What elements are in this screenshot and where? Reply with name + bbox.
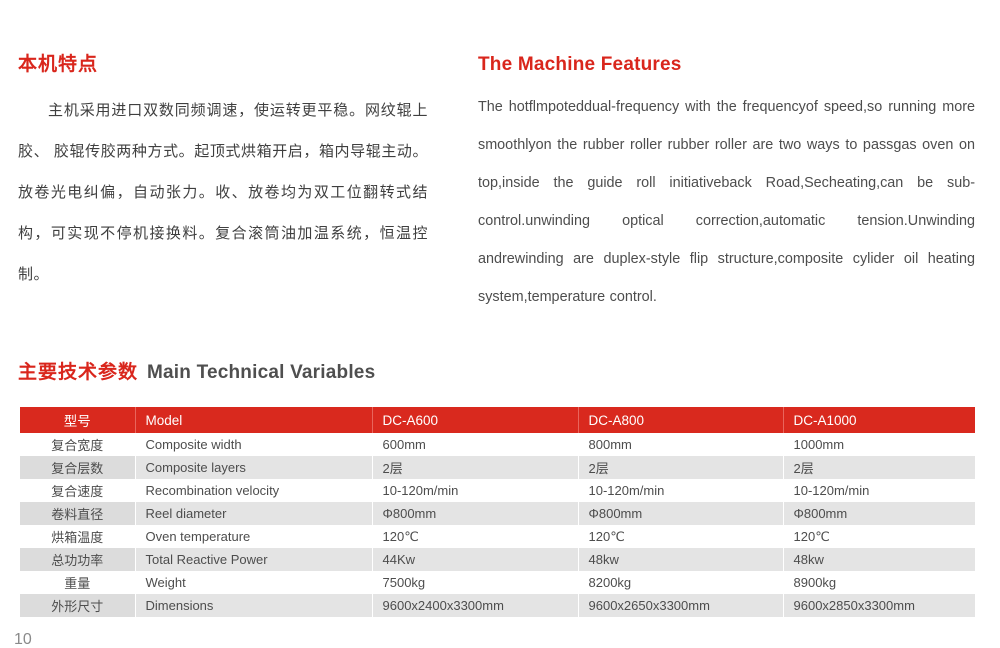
- row-label-cn: 卷料直径: [20, 502, 135, 525]
- row-label-en: Reel diameter: [135, 502, 372, 525]
- table-row: 烘箱温度 Oven temperature 120℃ 120℃ 120℃: [20, 525, 975, 548]
- row-label-en: Recombination velocity: [135, 479, 372, 502]
- row-value-dc-a800: 120℃: [578, 525, 783, 548]
- table-header-cell-model-cn: 型号: [20, 407, 135, 433]
- row-value-dc-a1000: Φ800mm: [783, 502, 975, 525]
- table-header-cell-dc-a600: DC-A600: [372, 407, 578, 433]
- row-value-dc-a1000: 1000mm: [783, 433, 975, 456]
- row-value-dc-a800: 800mm: [578, 433, 783, 456]
- features-body-chinese: 主机采用进口双数同频调速，使运转更平稳。网纹辊上胶、 胶辊传胶两种方式。起顶式烘…: [18, 90, 428, 295]
- row-value-dc-a600: 10-120m/min: [372, 479, 578, 502]
- features-heading-chinese: 本机特点: [18, 55, 428, 76]
- row-value-dc-a1000: 120℃: [783, 525, 975, 548]
- row-value-dc-a600: Φ800mm: [372, 502, 578, 525]
- row-value-dc-a1000: 2层: [783, 456, 975, 479]
- table-body: 复合宽度 Composite width 600mm 800mm 1000mm …: [20, 433, 975, 617]
- row-label-cn: 复合层数: [20, 456, 135, 479]
- row-value-dc-a1000: 48kw: [783, 548, 975, 571]
- row-value-dc-a800: 48kw: [578, 548, 783, 571]
- table-row: 外形尺寸 Dimensions 9600x2400x3300mm 9600x26…: [20, 594, 975, 617]
- row-value-dc-a600: 600mm: [372, 433, 578, 456]
- row-value-dc-a1000: 10-120m/min: [783, 479, 975, 502]
- row-label-cn: 重量: [20, 571, 135, 594]
- specs-title-english: Main Technical Variables: [147, 362, 375, 383]
- row-label-cn: 复合速度: [20, 479, 135, 502]
- table-header-row: 型号 Model DC-A600 DC-A800 DC-A1000: [20, 407, 975, 433]
- row-value-dc-a600: 9600x2400x3300mm: [372, 594, 578, 617]
- row-label-en: Oven temperature: [135, 525, 372, 548]
- row-value-dc-a600: 2层: [372, 456, 578, 479]
- row-label-cn: 复合宽度: [20, 433, 135, 456]
- features-column-chinese: 本机特点 主机采用进口双数同频调速，使运转更平稳。网纹辊上胶、 胶辊传胶两种方式…: [18, 55, 428, 295]
- table-row: 卷料直径 Reel diameter Φ800mm Φ800mm Φ800mm: [20, 502, 975, 525]
- machine-features-section: 本机特点 主机采用进口双数同频调速，使运转更平稳。网纹辊上胶、 胶辊传胶两种方式…: [0, 0, 1000, 340]
- row-label-cn: 烘箱温度: [20, 525, 135, 548]
- table-header-cell-dc-a1000: DC-A1000: [783, 407, 975, 433]
- table-header: 型号 Model DC-A600 DC-A800 DC-A1000: [20, 407, 975, 433]
- row-value-dc-a1000: 9600x2850x3300mm: [783, 594, 975, 617]
- specs-section-title: 主要技术参数Main Technical Variables: [18, 362, 375, 385]
- row-label-en: Weight: [135, 571, 372, 594]
- row-value-dc-a600: 120℃: [372, 525, 578, 548]
- page-number: 10: [14, 632, 32, 648]
- features-heading-english: The Machine Features: [478, 55, 975, 76]
- row-value-dc-a800: 9600x2650x3300mm: [578, 594, 783, 617]
- row-label-en: Composite layers: [135, 456, 372, 479]
- features-column-english: The Machine Features The hotflmpoteddual…: [478, 55, 975, 316]
- features-body-english: The hotflmpoteddual-frequency with the f…: [478, 88, 975, 316]
- table-header-cell-model-en: Model: [135, 407, 372, 433]
- specs-title-chinese: 主要技术参数: [18, 362, 138, 383]
- row-label-en: Composite width: [135, 433, 372, 456]
- row-value-dc-a600: 44Kw: [372, 548, 578, 571]
- row-value-dc-a800: Φ800mm: [578, 502, 783, 525]
- technical-variables-table: 型号 Model DC-A600 DC-A800 DC-A1000 复合宽度 C…: [20, 407, 975, 617]
- row-label-cn: 总功功率: [20, 548, 135, 571]
- table-row: 复合宽度 Composite width 600mm 800mm 1000mm: [20, 433, 975, 456]
- row-value-dc-a800: 2层: [578, 456, 783, 479]
- row-label-cn: 外形尺寸: [20, 594, 135, 617]
- row-value-dc-a600: 7500kg: [372, 571, 578, 594]
- table-header-cell-dc-a800: DC-A800: [578, 407, 783, 433]
- row-label-en: Dimensions: [135, 594, 372, 617]
- row-label-en: Total Reactive Power: [135, 548, 372, 571]
- row-value-dc-a800: 8200kg: [578, 571, 783, 594]
- table-row: 重量 Weight 7500kg 8200kg 8900kg: [20, 571, 975, 594]
- row-value-dc-a800: 10-120m/min: [578, 479, 783, 502]
- table-row: 复合速度 Recombination velocity 10-120m/min …: [20, 479, 975, 502]
- table-row: 复合层数 Composite layers 2层 2层 2层: [20, 456, 975, 479]
- row-value-dc-a1000: 8900kg: [783, 571, 975, 594]
- table-row: 总功功率 Total Reactive Power 44Kw 48kw 48kw: [20, 548, 975, 571]
